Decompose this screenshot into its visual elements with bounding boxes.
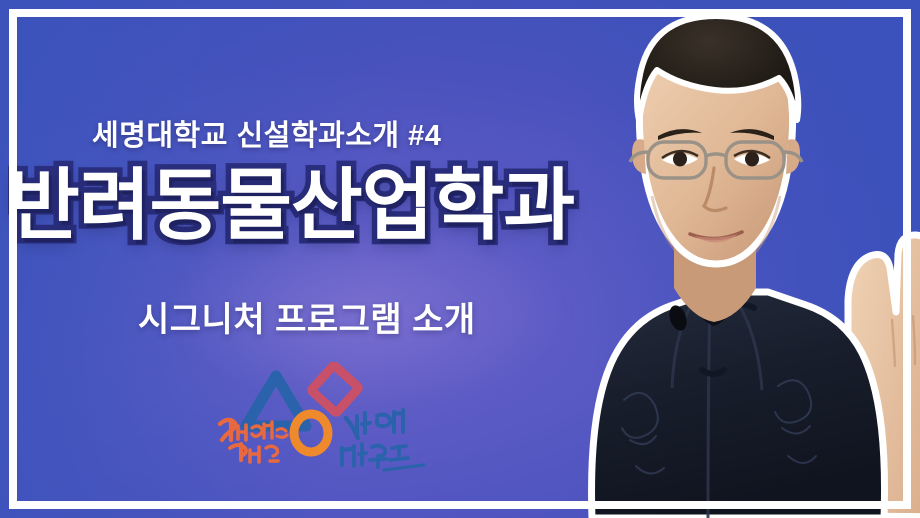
video-thumbnail: 세명대학교 신설학과소개 #4 반려동물산업학과 시그니처 프로그램 소개 xyxy=(0,0,920,518)
presenter-head xyxy=(630,16,802,264)
logo-wordmark xyxy=(342,410,424,470)
university-logo xyxy=(214,362,444,474)
subline-text: 시그니처 프로그램 소개 xyxy=(138,292,476,341)
logo-diamond-icon xyxy=(311,365,359,413)
presenter-torso xyxy=(592,283,885,518)
presenter-cutout xyxy=(496,0,920,518)
headline-text: 반려동물산업학과 xyxy=(8,166,574,244)
kicker-text: 세명대학교 신설학과소개 #4 xyxy=(92,112,441,154)
logo-circle-icon xyxy=(294,414,328,452)
